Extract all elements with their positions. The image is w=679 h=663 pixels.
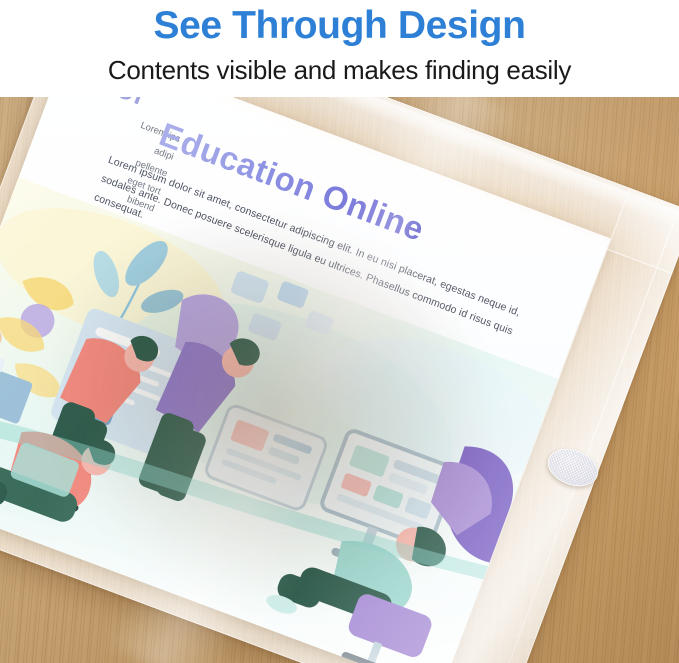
header-banner: See Through Design Contents visible and … (0, 0, 679, 97)
folder-drop-shadow (0, 97, 679, 663)
product-photo: LOI Lorem ips adipi pellente eget tort b… (0, 97, 679, 663)
page-title: See Through Design (153, 3, 525, 49)
page-subtitle: Contents visible and makes finding easil… (108, 55, 571, 86)
